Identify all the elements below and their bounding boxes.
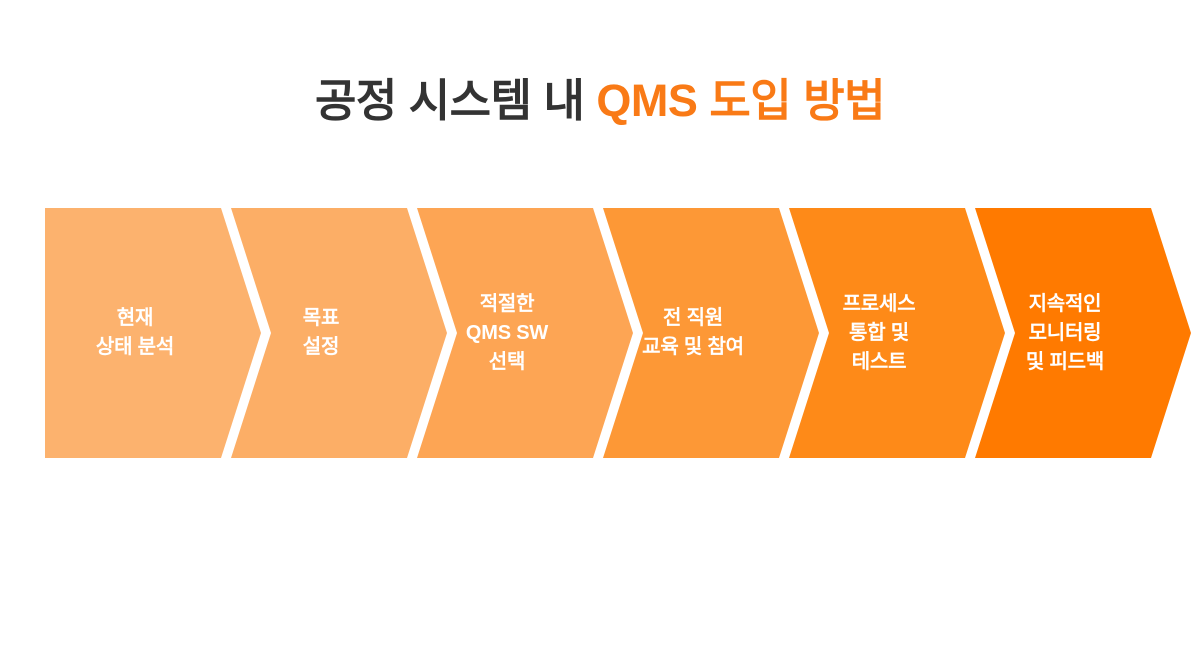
process-step-1-label: 현재 상태 분석 — [96, 304, 174, 362]
page-title: 공정 시스템 내 QMS 도입 방법 — [0, 74, 1200, 128]
process-step-6-label: 지속적인 모니터링 및 피드백 — [1026, 290, 1104, 377]
process-step-2[interactable]: 목표 설정 — [231, 208, 447, 458]
process-step-1[interactable]: 현재 상태 분석 — [45, 208, 261, 458]
process-flow-diagram: 현재 상태 분석 목표 설정 적절한 QMS SW 선택 전 직원 교육 및 참… — [45, 208, 1165, 458]
process-step-5[interactable]: 프로세스 통합 및 테스트 — [789, 208, 1005, 458]
process-step-4[interactable]: 전 직원 교육 및 참여 — [603, 208, 819, 458]
process-step-6[interactable]: 지속적인 모니터링 및 피드백 — [975, 208, 1191, 458]
process-step-5-label: 프로세스 통합 및 테스트 — [843, 290, 916, 377]
process-step-2-label: 목표 설정 — [303, 304, 339, 362]
page-title-primary: 공정 시스템 내 — [315, 75, 596, 126]
page-title-accent: QMS 도입 방법 — [596, 75, 885, 126]
process-step-3[interactable]: 적절한 QMS SW 선택 — [417, 208, 633, 458]
process-step-3-label: 적절한 QMS SW 선택 — [466, 290, 548, 377]
process-step-4-label: 전 직원 교육 및 참여 — [642, 304, 744, 362]
